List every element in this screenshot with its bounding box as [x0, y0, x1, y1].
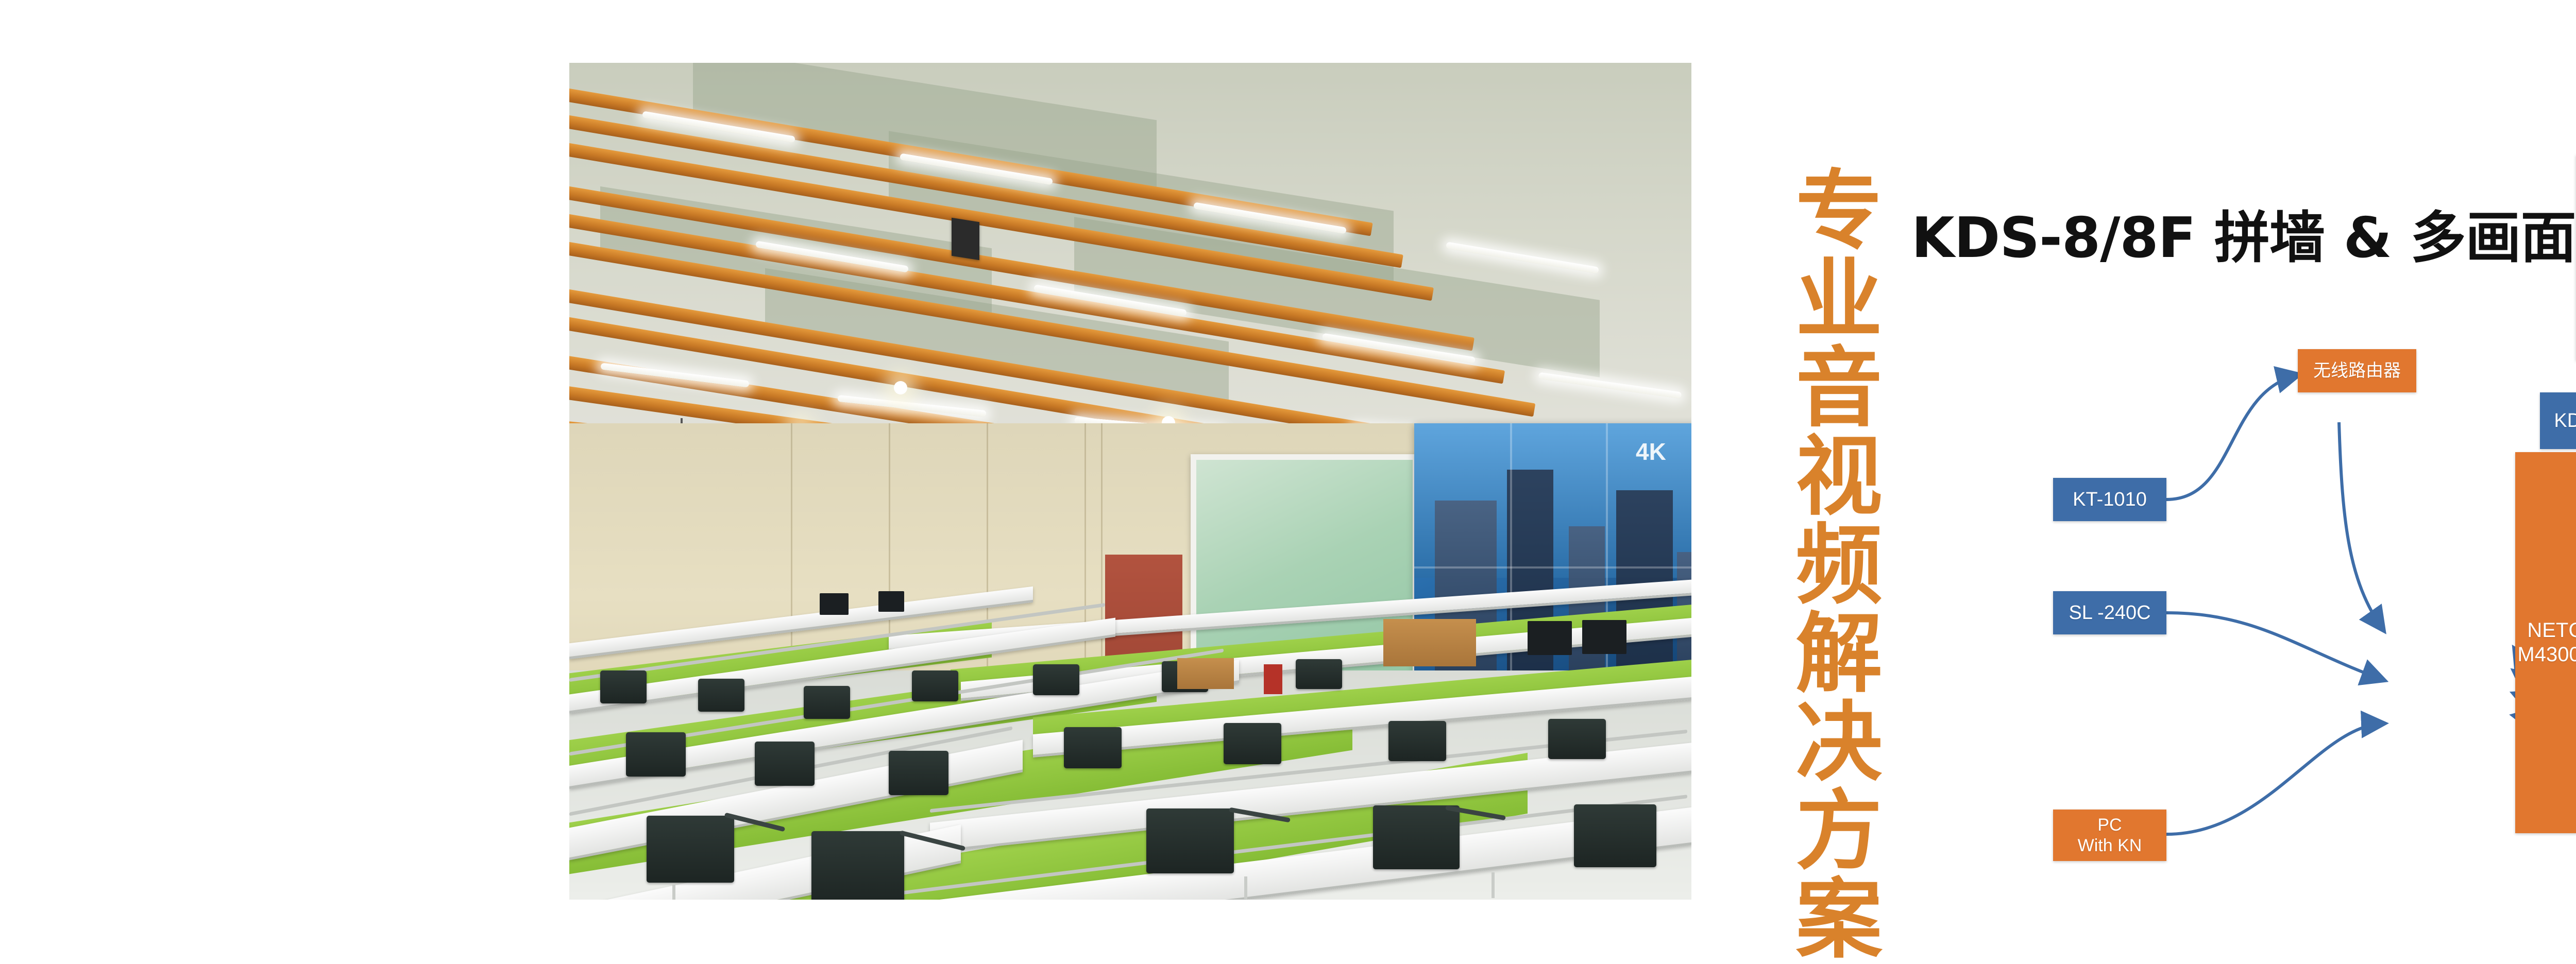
node-kds-8f-multiview[interactable]: KDS-8F [2540, 392, 2576, 449]
node-kt-1010[interactable]: KT-1010 [2053, 478, 2166, 521]
vertical-headline: 专业音视频解决方案 [1741, 165, 1875, 824]
pc-line-2: With KN [2078, 835, 2142, 856]
lecture-hall-photo: 4K [569, 63, 1691, 900]
system-diagram: KDS-8/8F 拼墙 & 多画面 [1906, 103, 2576, 875]
node-wireless-router[interactable]: 无线路由器 [2298, 349, 2416, 392]
node-netgear-switch[interactable]: NETGEAR M4300-8X8F [2515, 452, 2576, 833]
node-sl-240c[interactable]: SL -240C [2053, 591, 2166, 634]
switch-model: M4300-8X8F [2517, 643, 2576, 667]
node-pc-with-kn[interactable]: PC With KN [2053, 810, 2166, 861]
switch-brand: NETGEAR [2527, 618, 2576, 643]
pc-line-1: PC [2097, 815, 2122, 835]
slide-canvas: 4K [0, 0, 2576, 964]
connection-wires [1906, 103, 2576, 875]
